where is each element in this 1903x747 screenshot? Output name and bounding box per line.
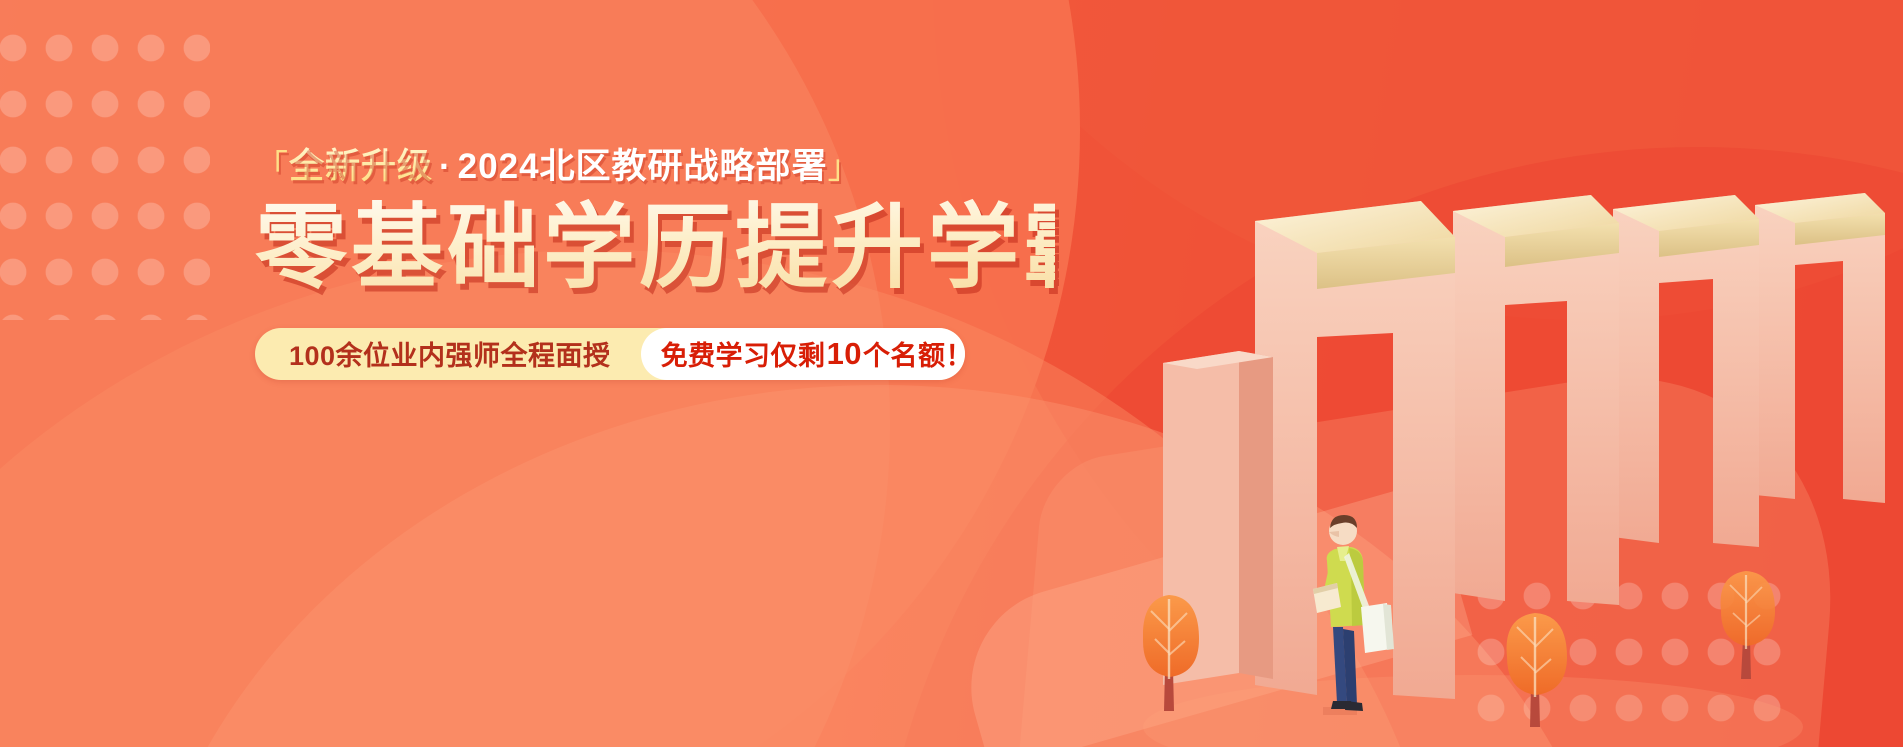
eyebrow-gold-text: 全新升级 bbox=[289, 147, 433, 186]
pill-free-slots-number: 10 bbox=[826, 336, 863, 372]
tree-left bbox=[1143, 595, 1199, 711]
arch-2 bbox=[1453, 195, 1619, 605]
pill-free-slots-label[interactable]: 免费学习仅剩10个名额！ bbox=[641, 328, 965, 380]
promotional-banner: 「全新升级·2024北区教研战略部署」 零基础学历提升学霸班 100余位业内强师… bbox=[0, 0, 1903, 747]
bracket-open-icon: 「 bbox=[255, 148, 289, 185]
banner-pill-group: 100余位业内强师全程面授 免费学习仅剩10个名额！ bbox=[255, 328, 965, 380]
arch-3 bbox=[1613, 195, 1759, 547]
bracket-close-icon: 」 bbox=[828, 148, 862, 185]
eyebrow-separator: · bbox=[433, 147, 458, 186]
arch-4 bbox=[1755, 193, 1885, 503]
banner-eyebrow: 「全新升级·2024北区教研战略部署」 bbox=[255, 148, 1055, 187]
tree-far-right bbox=[1721, 571, 1775, 679]
dot-grid-top-left bbox=[0, 20, 210, 320]
pill-instructors-label: 100余位业内强师全程面授 bbox=[255, 328, 641, 380]
eyebrow-white-text: 2024北区教研战略部署 bbox=[458, 147, 828, 186]
illustration-book-gates bbox=[1143, 187, 1903, 747]
pill-free-slots-prefix: 免费学习仅剩 bbox=[661, 334, 826, 373]
banner-headline: 零基础学历提升学霸班 bbox=[255, 197, 1055, 300]
pill-free-slots-suffix: 个名额！ bbox=[863, 334, 965, 373]
banner-copy-block: 「全新升级·2024北区教研战略部署」 零基础学历提升学霸班 100余位业内强师… bbox=[255, 148, 1055, 380]
